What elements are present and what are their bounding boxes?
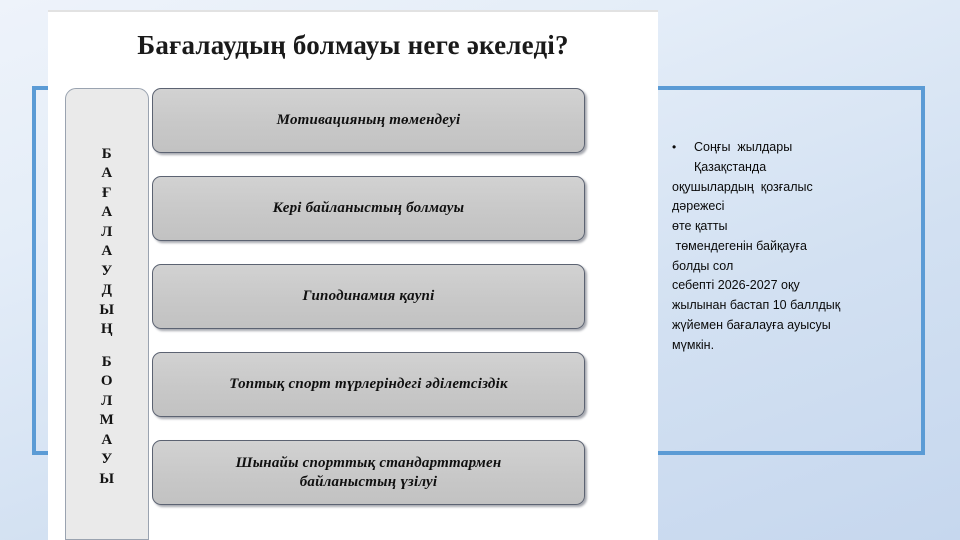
consequence-box[interactable]: Гиподинамия қаупі	[152, 264, 585, 329]
vertical-label-word-1: Б А Ғ А Л А У Д Ы Ң	[99, 145, 114, 340]
side-note-line: мүмкін.	[672, 336, 942, 356]
vertical-label-word-2: Б О Л М А У Ы	[99, 353, 114, 490]
vertical-label-column: Б А Ғ А Л А У Д Ы Ң Б О Л М А У Ы	[65, 88, 149, 540]
side-note: • Соңғы жылдары Қазақстанда оқушылардың …	[672, 138, 942, 355]
consequence-label: Кері байланыстың болмауы	[263, 199, 475, 218]
side-note-line: болды сол	[672, 257, 942, 277]
side-note-line: Қазақстанда	[694, 158, 942, 178]
consequence-box[interactable]: Шынайы спорттық стандарттармен байланыст…	[152, 440, 585, 505]
consequence-box[interactable]: Мотивацияның төмендеуі	[152, 88, 585, 153]
side-note-line: дәрежесі	[672, 197, 942, 217]
consequence-label: Мотивацияның төмендеуі	[267, 111, 471, 130]
consequence-box[interactable]: Кері байланыстың болмауы	[152, 176, 585, 241]
side-note-line: себепті 2026-2027 оқу	[672, 276, 942, 296]
side-note-head: Соңғы жылдары Қазақстанда	[688, 138, 942, 178]
consequence-box-stack: Мотивацияның төмендеуі Кері байланыстың …	[152, 88, 644, 540]
consequences-diagram: Б А Ғ А Л А У Д Ы Ң Б О Л М А У Ы Мотива…	[48, 12, 658, 540]
side-note-line: жылынан бастап 10 баллдық	[672, 296, 942, 316]
side-note-line: оқушылардың қозғалыс	[672, 178, 942, 198]
content-panel: Бағалаудың болмауы неге әкеледі? Б А Ғ А…	[48, 10, 658, 540]
slide-canvas: Бағалаудың болмауы неге әкеледі? Б А Ғ А…	[0, 0, 960, 540]
side-note-line: өте қатты	[672, 217, 942, 237]
side-note-body: оқушылардың қозғалыс дәрежесі өте қатты …	[672, 178, 942, 356]
consequence-label: Шынайы спорттық стандарттармен байланыст…	[226, 454, 512, 492]
bullet-icon: •	[672, 138, 688, 157]
side-note-line: Соңғы жылдары	[694, 138, 942, 158]
consequence-box[interactable]: Топтық спорт түрлеріндегі әділетсіздік	[152, 352, 585, 417]
side-note-bullet-row: • Соңғы жылдары Қазақстанда	[672, 138, 942, 178]
consequence-label: Топтық спорт түрлеріндегі әділетсіздік	[219, 375, 518, 394]
consequence-label: Гиподинамия қаупі	[293, 287, 445, 306]
side-note-line: жүйемен бағалауға ауысуы	[672, 316, 942, 336]
side-note-line: төмендегенін байқауға	[672, 237, 942, 257]
